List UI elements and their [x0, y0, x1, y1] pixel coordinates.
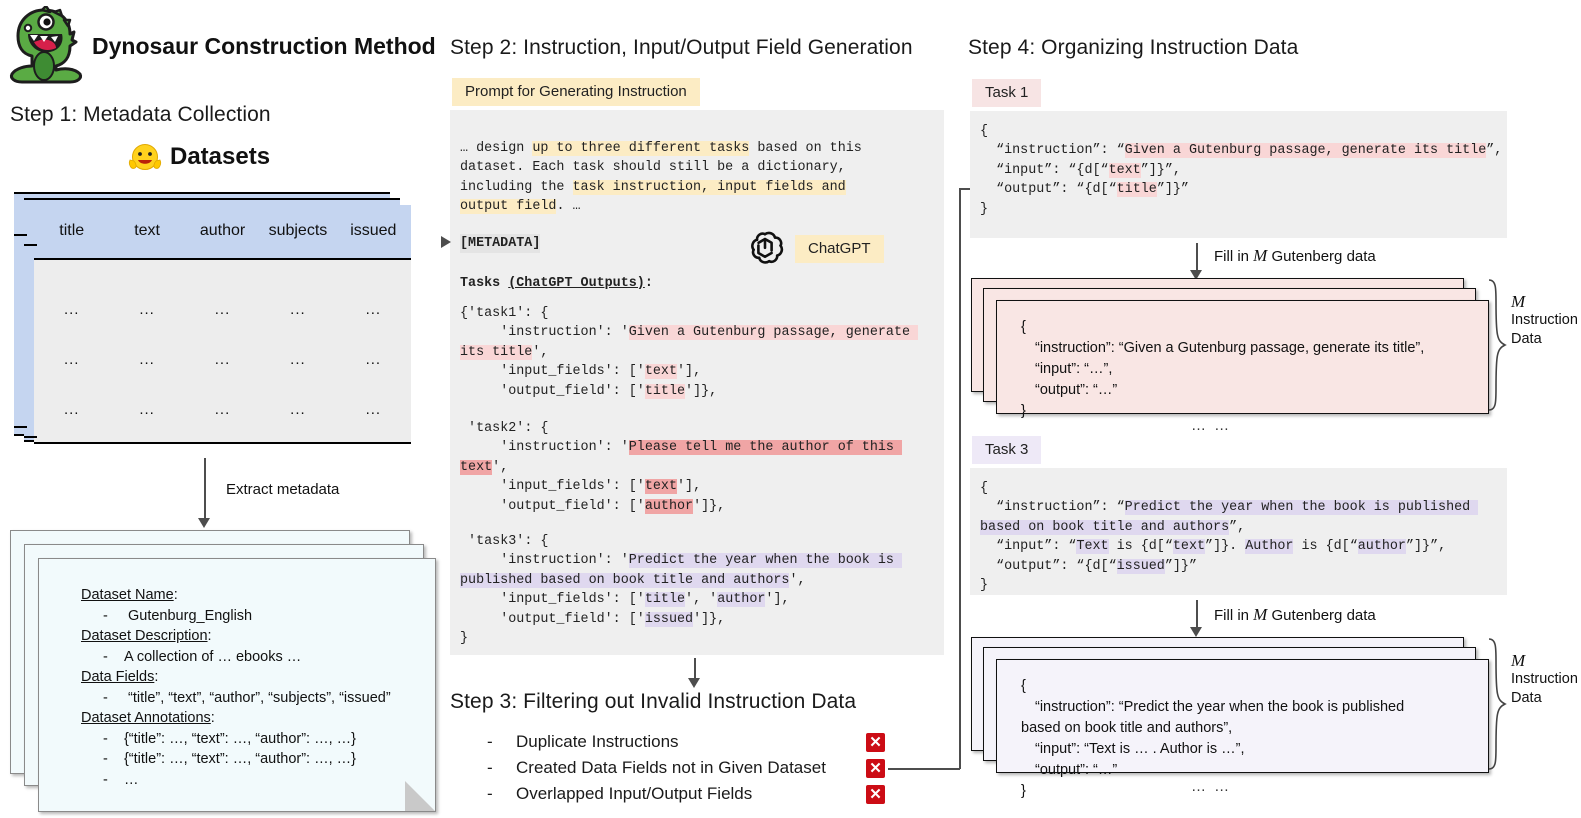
- prompt-part: … design: [460, 141, 532, 156]
- fill-label-3: Fill in M Gutenberg data: [1214, 605, 1376, 625]
- bullet-dash: -: [487, 732, 493, 752]
- prompt-highlight: up to three different tasks: [532, 141, 749, 156]
- json-input-d: author: [1358, 539, 1406, 554]
- metadata-item: Gutenburg_English: [128, 608, 252, 624]
- fill-label-1: Fill in M Gutenberg data: [1214, 246, 1376, 266]
- extract-arrow-line: [204, 458, 206, 520]
- step1-title: Step 1: Metadata Collection: [10, 103, 271, 127]
- column-header-subjects: subjects: [260, 222, 335, 240]
- tasks-header-underline: (ChatGPT Outputs): [508, 276, 645, 291]
- cell: ...: [109, 351, 184, 368]
- task-key: task1: [476, 306, 516, 321]
- json-input-b: text: [1173, 539, 1205, 554]
- cell: ...: [185, 301, 260, 318]
- metadata-heading: Dataset Description: [81, 628, 208, 644]
- task-key: task2: [476, 421, 516, 436]
- fill-post: Gutenberg data: [1267, 248, 1375, 265]
- fill-post: Gutenberg data: [1267, 607, 1375, 624]
- json-tail: ”]}”: [1165, 559, 1197, 574]
- filter-item-overlapped: Overlapped Input/Output Fields: [516, 784, 752, 804]
- cell: ...: [336, 401, 411, 418]
- card-output: “output”: “…”: [1021, 380, 1424, 401]
- reject-icon[interactable]: ✕: [866, 785, 885, 804]
- cell: ...: [260, 401, 335, 418]
- page-title: Dynosaur Construction Method: [92, 33, 436, 60]
- json-tail: ”]}”,: [1406, 539, 1446, 554]
- task-1-tab[interactable]: Task 1: [972, 79, 1041, 107]
- card-open: {: [1021, 676, 1404, 697]
- cell: ...: [336, 351, 411, 368]
- brace-1-icon: [1487, 278, 1507, 412]
- bullet-dash: -: [487, 784, 493, 804]
- json-key: “input”: “{d[“: [980, 163, 1109, 178]
- metadata-item: A collection of … ebooks …: [124, 649, 301, 665]
- metadata-card: Dataset Name: - Gutenburg_English Datase…: [38, 558, 436, 812]
- metadata-content: Dataset Name: - Gutenburg_English Datase…: [81, 585, 391, 790]
- step3-title: Step 3: Filtering out Invalid Instructio…: [450, 690, 856, 714]
- m-label-line2: Data: [1511, 330, 1578, 349]
- json-close: }: [980, 202, 988, 217]
- json-key: “output”: “{d[“: [980, 182, 1117, 197]
- cell: ...: [109, 301, 184, 318]
- step3-to-step4-line-v: [959, 188, 961, 769]
- metadata-item: {“title”: …, “text”: …, “author”: …, …}: [124, 731, 356, 747]
- cell: ...: [336, 301, 411, 318]
- m-symbol: M: [1511, 292, 1578, 311]
- cell: ...: [185, 401, 260, 418]
- json-tail: ”,: [1229, 520, 1245, 535]
- json-input-c: Author: [1245, 539, 1293, 554]
- task-1-block: {'task1': { 'instruction': 'Given a Gute…: [460, 304, 932, 401]
- task-input-field: text: [645, 479, 677, 494]
- json-key: “output”: “{d[“: [980, 559, 1117, 574]
- metadata-item: {“title”: …, “text”: …, “author”: …, …}: [124, 751, 356, 767]
- extract-arrow-head: [198, 518, 210, 528]
- card-input: “input”: “Text is … . Author is …”,: [1021, 739, 1404, 760]
- json-close: }: [980, 578, 988, 593]
- fill-m: M: [1253, 246, 1267, 265]
- tasks-header: Tasks (ChatGPT Outputs):: [460, 274, 653, 293]
- cell: ...: [34, 351, 109, 368]
- datasets-label: Datasets: [170, 143, 270, 171]
- extract-metadata-label: Extract metadata: [226, 481, 339, 498]
- metadata-item: …: [124, 772, 139, 788]
- json-output-value: title: [1117, 182, 1157, 197]
- prompt-tag: Prompt for Generating Instruction: [452, 78, 700, 106]
- cell: ...: [34, 301, 109, 318]
- metadata-heading: Dataset Name: [81, 587, 174, 603]
- prompt-text: … design up to three different tasks bas…: [460, 139, 930, 217]
- card-instruction: “instruction”: “Given a Gutenburg passag…: [1021, 338, 1424, 359]
- m-symbol: M: [1511, 651, 1578, 670]
- table-row: ... ... ... ... ...: [34, 401, 411, 418]
- m-instruction-data-3: M Instruction Data: [1511, 651, 1578, 708]
- card-instruction: “instruction”: “Predict the year when th…: [1021, 697, 1404, 718]
- json-tail: ”]}”,: [1141, 163, 1181, 178]
- json-input-a: Text: [1076, 539, 1108, 554]
- prompt-part: . …: [556, 199, 580, 214]
- json-key: “instruction”: “: [980, 500, 1125, 515]
- task-output-field: author: [645, 499, 693, 514]
- task1-fill-line: [1196, 243, 1198, 273]
- bullet-dash: -: [487, 758, 493, 778]
- ellipsis-3: … …: [1191, 778, 1231, 795]
- json-mid: ”]}.: [1205, 539, 1245, 554]
- column-header-author: author: [185, 222, 260, 240]
- json-key: “input”: “: [980, 539, 1076, 554]
- m-instruction-data-1: M Instruction Data: [1511, 292, 1578, 349]
- step2-to-step3-line: [694, 658, 696, 680]
- json-instruction-value: Given a Gutenburg passage, generate its …: [1125, 143, 1487, 158]
- json-key: “instruction”: “: [980, 143, 1125, 158]
- json-tail: ”]}”: [1157, 182, 1189, 197]
- hugging-face-icon: [128, 142, 162, 176]
- json-input-value: text: [1109, 163, 1141, 178]
- task-instruction: Given a Gutenburg passage, generate its …: [460, 325, 918, 359]
- task-input-field: author: [717, 592, 765, 607]
- json-open: {: [980, 124, 988, 139]
- fill-pre: Fill in: [1214, 607, 1253, 624]
- task-3-json: { “instruction”: “Predict the year when …: [980, 479, 1508, 595]
- filter-item-created-fields: Created Data Fields not in Given Dataset: [516, 758, 826, 778]
- m-label-line1: Instruction: [1511, 670, 1578, 689]
- json-open: {: [980, 481, 988, 496]
- cell: ...: [34, 401, 109, 418]
- column-header-text: text: [109, 222, 184, 240]
- task-input-field: text: [645, 364, 677, 379]
- metadata-heading: Data Fields: [81, 669, 154, 685]
- card-instruction-2: based on book title and authors”,: [1021, 718, 1404, 739]
- fill-m: M: [1253, 605, 1267, 624]
- metadata-inject-arrow: [441, 236, 451, 248]
- task-input-field: title: [645, 592, 685, 607]
- task-3-tab[interactable]: Task 3: [972, 436, 1041, 464]
- cell: ...: [260, 301, 335, 318]
- brace-3-icon: [1487, 637, 1507, 771]
- task-instruction: Predict the year when the book is publis…: [460, 553, 902, 587]
- dinosaur-icon: [8, 6, 84, 88]
- task-output-field: title: [645, 384, 685, 399]
- dataset-table: title text author subjects issued ... ..…: [14, 188, 434, 456]
- instruction-card-1: { “instruction”: “Given a Gutenburg pass…: [996, 300, 1489, 414]
- chatgpt-label: ChatGPT: [795, 235, 884, 263]
- cell: ...: [185, 351, 260, 368]
- task-2-block: 'task2': { 'instruction': 'Please tell m…: [460, 419, 932, 516]
- table-header-row: title text author subjects issued: [34, 222, 411, 240]
- fill-pre: Fill in: [1214, 248, 1253, 265]
- step4-title: Step 4: Organizing Instruction Data: [968, 36, 1298, 60]
- instruction-card-body-1: { “instruction”: “Given a Gutenburg pass…: [1021, 317, 1424, 422]
- openai-logo-icon: [745, 228, 785, 268]
- cell: ...: [260, 351, 335, 368]
- task-3-block: 'task3': { 'instruction': 'Predict the y…: [460, 532, 934, 648]
- table-row: ... ... ... ... ...: [34, 301, 411, 318]
- table-row: ... ... ... ... ...: [34, 351, 411, 368]
- metadata-heading: Dataset Annotations: [81, 710, 211, 726]
- instruction-card-3: { “instruction”: “Predict the year when …: [996, 659, 1489, 773]
- tasks-header-plain: Tasks: [460, 276, 508, 291]
- m-label-line1: Instruction: [1511, 311, 1578, 330]
- step3-to-step4-line-h: [888, 768, 960, 770]
- column-header-issued: issued: [336, 222, 411, 240]
- json-mid: is {d[“: [1293, 539, 1357, 554]
- task-output-field: issued: [645, 612, 693, 627]
- ellipsis-1: … …: [1191, 417, 1231, 434]
- task3-fill-arrow: [1190, 627, 1202, 637]
- json-output-value: issued: [1117, 559, 1165, 574]
- step2-title: Step 2: Instruction, Input/Output Field …: [450, 36, 913, 60]
- json-tail: ”,: [1486, 143, 1502, 158]
- card-open: {: [1021, 317, 1424, 338]
- page-fold-icon: [405, 781, 435, 811]
- filter-item-duplicate: Duplicate Instructions: [516, 732, 679, 752]
- task-1-json: { “instruction”: “Given a Gutenburg pass…: [980, 122, 1503, 219]
- cell: ...: [109, 401, 184, 418]
- step2-to-step3-arrow: [688, 678, 700, 688]
- column-header-title: title: [34, 222, 109, 240]
- tasks-header-colon: :: [645, 276, 653, 291]
- metadata-item: “title”, “text”, “author”, “subjects”, “…: [128, 690, 391, 706]
- reject-icon[interactable]: ✕: [866, 733, 885, 752]
- m-label-line2: Data: [1511, 689, 1578, 708]
- reject-icon[interactable]: ✕: [866, 759, 885, 778]
- task-key: task3: [476, 534, 516, 549]
- card-input: “input”: “…”,: [1021, 359, 1424, 380]
- task-instruction: Please tell me the author of this text: [460, 440, 902, 474]
- task3-fill-line: [1196, 600, 1198, 630]
- metadata-token: [METADATA]: [460, 234, 540, 253]
- json-mid: is {d[“: [1109, 539, 1173, 554]
